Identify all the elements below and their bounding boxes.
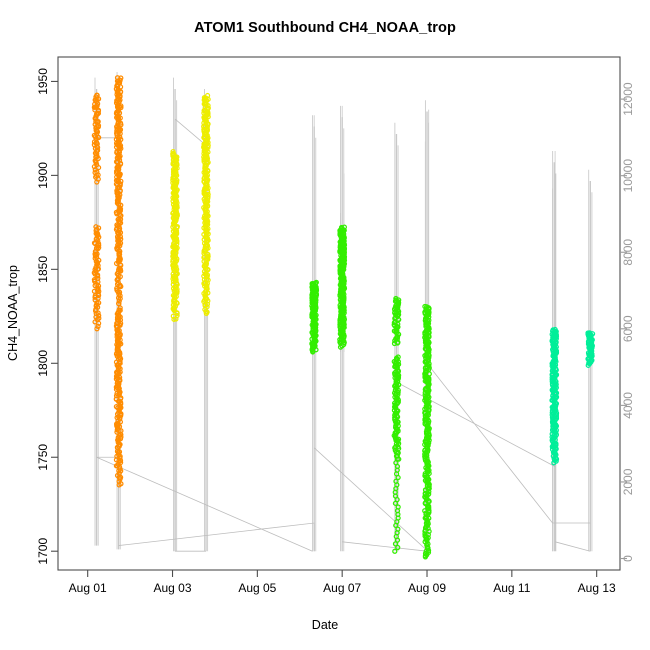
- y2-tick-label: 2000: [621, 468, 635, 495]
- y2-tick-label: 10000: [621, 159, 635, 193]
- y-tick-label: 1750: [36, 444, 50, 471]
- ch4-profile-scatter-plot: 170017501800185019001950 020004000600080…: [0, 0, 650, 650]
- y-tick-label: 1850: [36, 256, 50, 283]
- y-tick-label: 1950: [36, 68, 50, 95]
- data-point: [116, 76, 120, 80]
- y2-axis-ticks: 020004000600080001000012000: [620, 82, 635, 562]
- y-tick-label: 1900: [36, 162, 50, 189]
- data-point: [342, 225, 346, 229]
- transit-connector-line: [427, 363, 590, 523]
- x-tick-label: Aug 07: [323, 581, 361, 595]
- y-axis-ticks: 170017501800185019001950: [36, 68, 58, 565]
- x-tick-label: Aug 11: [493, 581, 530, 595]
- y-tick-label: 1700: [36, 538, 50, 565]
- y2-tick-label: 12000: [621, 82, 635, 116]
- x-tick-label: Aug 09: [408, 581, 446, 595]
- chart-page: ATOM1 Southbound CH4_NOAA_trop 170017501…: [0, 0, 650, 650]
- x-tick-label: Aug 05: [238, 581, 276, 595]
- transit-connector-line: [119, 523, 315, 551]
- y2-tick-label: 6000: [621, 315, 635, 342]
- x-tick-label: Aug 01: [69, 581, 107, 595]
- transit-connector-line: [555, 542, 590, 551]
- x-tick-label: Aug 13: [578, 581, 616, 595]
- y2-tick-label: 4000: [621, 392, 635, 419]
- x-axis-title: Date: [312, 618, 338, 632]
- y2-tick-label: 8000: [621, 239, 635, 266]
- data-point: [206, 94, 210, 98]
- x-axis-ticks: Aug 01Aug 03Aug 05Aug 07Aug 09Aug 11Aug …: [69, 570, 616, 595]
- y-tick-label: 1800: [36, 350, 50, 377]
- data-point: [393, 549, 397, 553]
- y2-tick-label: 0: [621, 555, 635, 562]
- x-tick-label: Aug 03: [153, 581, 191, 595]
- transit-connector-line: [314, 448, 428, 551]
- y-axis-title: CH4_NOAA_trop: [6, 265, 20, 361]
- transit-connector-line: [396, 382, 555, 467]
- transit-connector-line: [342, 542, 427, 551]
- data-point: [94, 225, 98, 229]
